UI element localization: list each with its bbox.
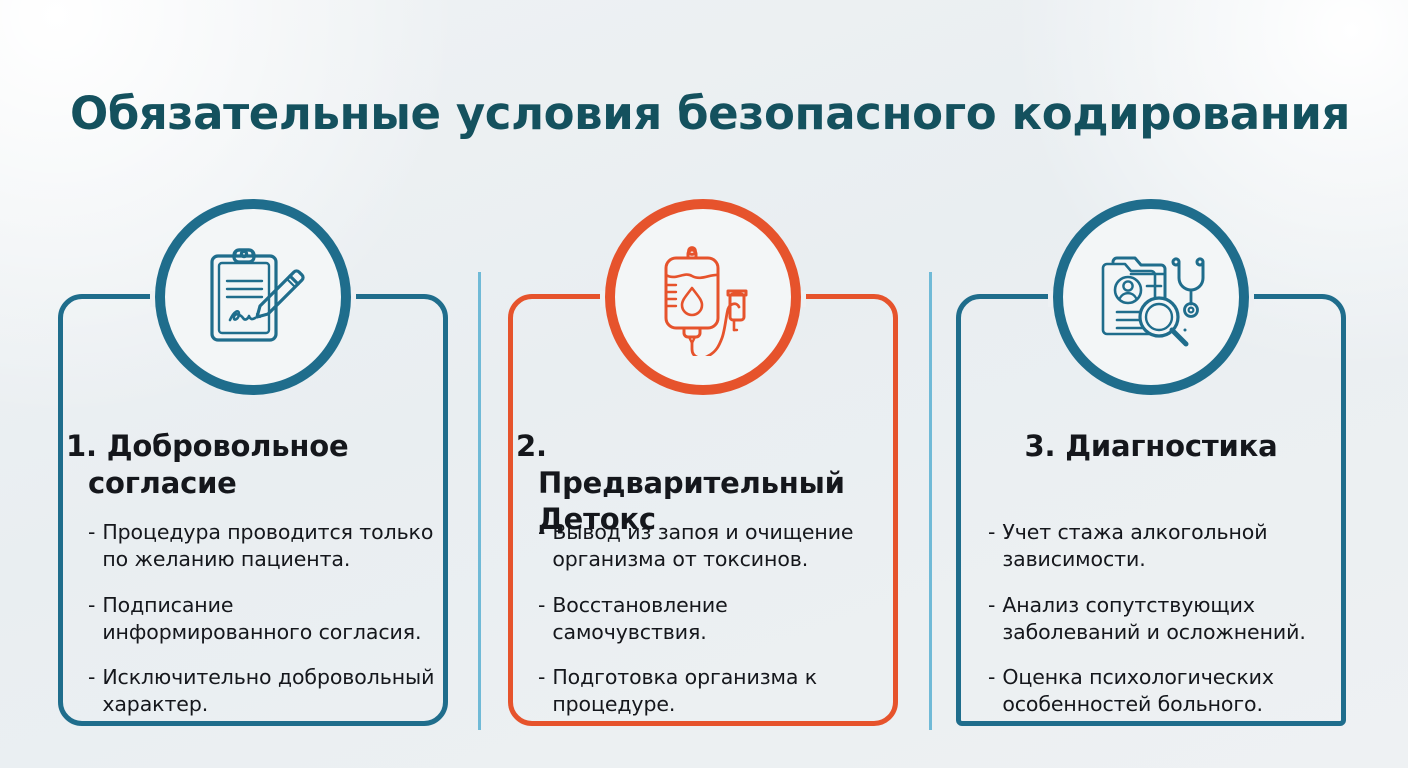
column-divider-1 bbox=[478, 272, 481, 730]
bullet-text: Анализ сопутствующих заболеваний и ослож… bbox=[1002, 592, 1328, 647]
list-item: - Процедура проводится только по желанию… bbox=[88, 519, 438, 574]
bullet-dash: - bbox=[988, 519, 995, 574]
bullet-text: Подписание информированного согласия. bbox=[102, 592, 438, 647]
list-item: - Оценка психологических особенностей бо… bbox=[988, 664, 1328, 719]
card-bullets-1: - Процедура проводится только по желанию… bbox=[88, 519, 438, 737]
card-bullets-2: - Вывод из запоя и очищение организма от… bbox=[538, 519, 888, 737]
list-item: - Учет стажа алкогольной зависимости. bbox=[988, 519, 1328, 574]
card-bullets-3: - Учет стажа алкогольной зависимости. - … bbox=[988, 519, 1328, 737]
list-item: - Исключительно добровольный характер. bbox=[88, 664, 438, 719]
page-title: Обязательные условия безопасного кодиров… bbox=[70, 88, 1360, 140]
bullet-dash: - bbox=[88, 519, 95, 574]
bullet-dash: - bbox=[88, 592, 95, 647]
column-divider-2 bbox=[929, 272, 932, 730]
card-title-1: 1. Добровольное согласие bbox=[58, 428, 410, 501]
list-item: - Вывод из запоя и очищение организма от… bbox=[538, 519, 888, 574]
medical-records-search-icon bbox=[1053, 199, 1249, 395]
bullet-dash: - bbox=[538, 592, 545, 647]
bullet-dash: - bbox=[538, 519, 545, 574]
bullet-dash: - bbox=[538, 664, 545, 719]
bullet-text: Процедура проводится только по желанию п… bbox=[102, 519, 438, 574]
list-item: - Подписание информированного согласия. bbox=[88, 592, 438, 647]
bullet-text: Подготовка организма к процедуре. bbox=[552, 664, 888, 719]
bullet-text: Оценка психологических особенностей боль… bbox=[1002, 664, 1328, 719]
list-item: - Восстановление самочувствия. bbox=[538, 592, 888, 647]
bullet-text: Восстановление самочувствия. bbox=[552, 592, 888, 647]
card-title-3: 3. Диагностика bbox=[956, 428, 1346, 465]
list-item: - Анализ сопутствующих заболеваний и осл… bbox=[988, 592, 1328, 647]
iv-drip-icon bbox=[605, 199, 801, 395]
infographic-canvas: Обязательные условия безопасного кодиров… bbox=[0, 0, 1408, 768]
bullet-text: Вывод из запоя и очищение организма от т… bbox=[552, 519, 888, 574]
bullet-dash: - bbox=[988, 592, 995, 647]
bullet-dash: - bbox=[88, 664, 95, 719]
list-item: - Подготовка организма к процедуре. bbox=[538, 664, 888, 719]
clipboard-signature-icon bbox=[155, 199, 351, 395]
bullet-text: Исключительно добровольный характер. bbox=[102, 664, 438, 719]
bullet-text: Учет стажа алкогольной зависимости. bbox=[1002, 519, 1328, 574]
bullet-dash: - bbox=[988, 664, 995, 719]
